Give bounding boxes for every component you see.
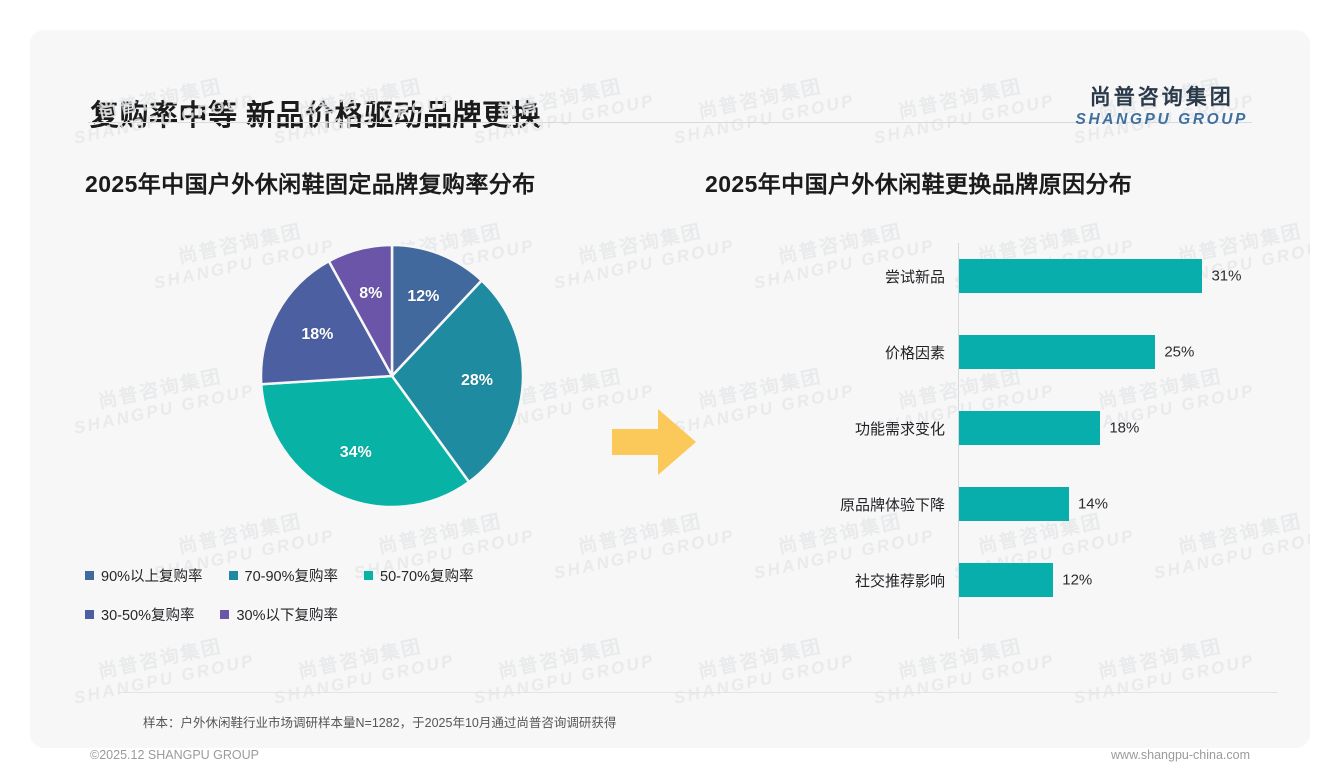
bar-row: 尝试新品31% — [705, 259, 1285, 293]
legend-label: 50-70%复购率 — [380, 565, 473, 586]
slide-card: 尚普咨询集团SHANGPU GROUP尚普咨询集团SHANGPU GROUP尚普… — [30, 30, 1310, 748]
bar-value-label: 25% — [1164, 344, 1194, 361]
pie-slice-label: 12% — [407, 288, 439, 306]
bar-row: 功能需求变化18% — [705, 411, 1285, 445]
bar-track: 14% — [959, 487, 1285, 521]
pie-chart: 12%28%34%18%8% — [85, 241, 645, 551]
pie-slice-label: 18% — [301, 326, 333, 344]
logo-chinese-text: 尚普咨询集团 — [1076, 86, 1248, 111]
legend-row: 30-50%复购率30%以下复购率 — [85, 604, 625, 625]
slide-footer: ©2025.12 SHANGPU GROUP www.shangpu-china… — [0, 736, 1340, 780]
legend-label: 30%以下复购率 — [236, 604, 338, 625]
bar-category-label: 原品牌体验下降 — [705, 494, 959, 515]
pie-slice-label: 34% — [340, 444, 372, 462]
bar-value-label: 12% — [1062, 572, 1092, 589]
legend-item[interactable]: 90%以上复购率 — [85, 565, 203, 586]
bar-track: 12% — [959, 563, 1285, 597]
bar-value-label: 14% — [1078, 496, 1108, 513]
bar-fill[interactable] — [959, 487, 1069, 521]
bar-track: 18% — [959, 411, 1285, 445]
legend-item[interactable]: 70-90%复购率 — [229, 565, 338, 586]
bar-category-label: 尝试新品 — [705, 266, 959, 287]
left-chart-title: 2025年中国户外休闲鞋固定品牌复购率分布 — [85, 165, 645, 199]
legend-row: 90%以上复购率70-90%复购率50-70%复购率 — [85, 565, 625, 586]
bar-row: 价格因素25% — [705, 335, 1285, 369]
right-chart-panel: 2025年中国户外休闲鞋更换品牌原因分布 尝试新品31%价格因素25%功能需求变… — [705, 165, 1285, 653]
bar-fill[interactable] — [959, 335, 1155, 369]
left-chart-panel: 2025年中国户外休闲鞋固定品牌复购率分布 12%28%34%18%8% 90%… — [85, 165, 645, 643]
bar-fill[interactable] — [959, 411, 1100, 445]
legend-item[interactable]: 30%以下复购率 — [220, 604, 338, 625]
right-chart-title: 2025年中国户外休闲鞋更换品牌原因分布 — [705, 165, 1285, 199]
website-link[interactable]: www.shangpu-china.com — [1111, 748, 1250, 762]
bar-chart: 尝试新品31%价格因素25%功能需求变化18%原品牌体验下降14%社交推荐影响1… — [705, 243, 1285, 653]
legend-swatch-icon — [364, 571, 373, 580]
bar-category-label: 社交推荐影响 — [705, 570, 959, 591]
slide-root: 尚普咨询集团SHANGPU GROUP尚普咨询集团SHANGPU GROUP尚普… — [0, 0, 1340, 780]
bar-row: 社交推荐影响12% — [705, 563, 1285, 597]
bar-value-label: 31% — [1211, 268, 1241, 285]
right-arrow-icon — [608, 403, 700, 481]
pie-slice-label: 28% — [461, 372, 493, 390]
bar-track: 25% — [959, 335, 1285, 369]
copyright-text: ©2025.12 SHANGPU GROUP — [90, 748, 259, 762]
legend-item[interactable]: 50-70%复购率 — [364, 565, 473, 586]
legend-swatch-icon — [85, 571, 94, 580]
legend-swatch-icon — [85, 610, 94, 619]
bar-value-label: 18% — [1109, 420, 1139, 437]
legend-label: 90%以上复购率 — [101, 565, 203, 586]
legend-swatch-icon — [229, 571, 238, 580]
legend-label: 30-50%复购率 — [101, 604, 194, 625]
pie-slice-label: 8% — [359, 285, 382, 303]
sample-note: 样本：户外休闲鞋行业市场调研样本量N=1282，于2025年10月通过尚普咨询调… — [143, 712, 616, 731]
brand-logo: 尚普咨询集团 SHANGPU GROUP — [1076, 86, 1248, 129]
bar-fill[interactable] — [959, 259, 1202, 293]
legend-label: 70-90%复购率 — [245, 565, 338, 586]
pie-legend: 90%以上复购率70-90%复购率50-70%复购率30-50%复购率30%以下… — [85, 565, 625, 625]
bar-fill[interactable] — [959, 563, 1053, 597]
bar-row: 原品牌体验下降14% — [705, 487, 1285, 521]
bar-category-label: 价格因素 — [705, 342, 959, 363]
legend-swatch-icon — [220, 610, 229, 619]
bar-category-label: 功能需求变化 — [705, 418, 959, 439]
logo-english-text: SHANGPU GROUP — [1076, 111, 1248, 130]
bar-track: 31% — [959, 259, 1285, 293]
sample-divider — [118, 692, 1278, 693]
legend-item[interactable]: 30-50%复购率 — [85, 604, 194, 625]
